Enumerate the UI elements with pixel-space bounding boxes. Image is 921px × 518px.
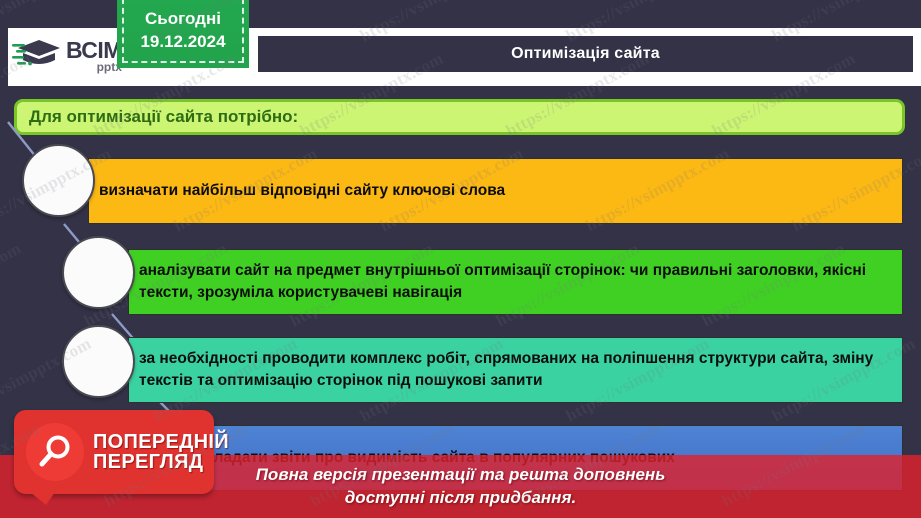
preview-badge-line2: ПЕРЕГЛЯД: [93, 452, 229, 472]
date-badge-date: 19.12.2024: [140, 31, 225, 54]
page-title: Оптимізація сайта: [511, 45, 660, 63]
logo-name: ВСІМ: [66, 39, 122, 62]
content-bar-3: за необхідності проводити комплекс робіт…: [128, 337, 903, 403]
preview-badge-line1: ПОПЕРЕДНІЙ: [93, 432, 229, 452]
brand-logo: ВСІМ pptx: [10, 30, 130, 82]
content-bar-3-text: за необхідності проводити комплекс робіт…: [129, 348, 902, 393]
slide-title-bar: Оптимізація сайта: [258, 36, 913, 72]
date-badge-label: Сьогодні: [145, 8, 221, 31]
bullet-bubble-1: [22, 144, 95, 217]
date-badge: Сьогодні 19.12.2024: [117, 0, 249, 68]
bullet-bubble-2: [62, 236, 135, 309]
content-bar-2: аналізувати сайт на предмет внутрішньої …: [128, 249, 903, 315]
preview-badge[interactable]: ПОПЕРЕДНІЙ ПЕРЕГЛЯД: [14, 410, 214, 494]
content-bar-1: визначати найбільш відповідні сайту ключ…: [88, 158, 903, 224]
bullet-bubble-3: [62, 325, 135, 398]
purchase-banner-line2: доступні після придбання.: [345, 487, 576, 509]
purchase-banner-line1: Повна версія презентації та решта доповн…: [256, 464, 666, 486]
slide-canvas: Оптимізація сайта ВСІМ pptx Сьогодні 19.…: [0, 0, 921, 518]
content-bar-2-text: аналізувати сайт на предмет внутрішньої …: [129, 260, 902, 305]
graduation-cap-icon: [10, 34, 64, 78]
content-bar-1-text: визначати найбільш відповідні сайту ключ…: [89, 180, 513, 202]
magnifier-icon: [26, 423, 84, 481]
